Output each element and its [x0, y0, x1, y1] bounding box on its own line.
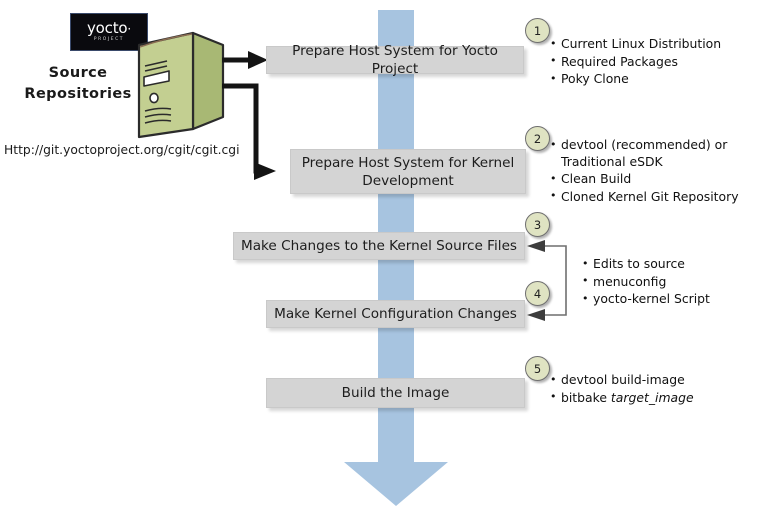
note-text: Current Linux Distribution: [561, 36, 721, 51]
list-item: menuconfig: [582, 274, 752, 291]
process-box-step-5[interactable]: Build the Image: [266, 378, 525, 408]
step-badge-2-number: 2: [534, 132, 541, 146]
source-repository-url: Http://git.yoctoproject.org/cgit/cgit.cg…: [4, 143, 236, 157]
logo-wordmark: yocto·: [87, 21, 131, 36]
list-item: bitbake target_image: [550, 390, 750, 407]
note-text: yocto-kernel Script: [593, 291, 710, 306]
notes-list-step-5: devtool build-image bitbake target_image: [550, 372, 750, 407]
logo-word-text: yocto: [87, 19, 127, 37]
step-badge-3-number: 3: [534, 218, 541, 232]
step-badge-5: 5: [525, 356, 550, 381]
step-badge-4-number: 4: [534, 287, 541, 301]
process-box-step-2-label: Prepare Host System for Kernel Developme…: [291, 154, 525, 190]
step-badge-5-number: 5: [534, 362, 541, 376]
list-item: Current Linux Distribution: [550, 36, 755, 53]
step-badge-4: 4: [525, 281, 550, 306]
process-box-step-2[interactable]: Prepare Host System for Kernel Developme…: [290, 149, 526, 194]
process-box-step-3[interactable]: Make Changes to the Kernel Source Files: [233, 232, 525, 260]
source-repositories-label: Source Repositories: [14, 63, 142, 105]
source-label-line1: Source: [14, 63, 142, 84]
note-text: menuconfig: [593, 274, 666, 289]
list-item: Poky Clone: [550, 71, 755, 88]
diagram-canvas: yocto· PROJECT Source Repositories Http:…: [0, 0, 769, 517]
list-item: Clean Build: [550, 171, 750, 188]
note-text: devtool (recommended) or: [561, 137, 727, 152]
notes-list-steps-3-4: Edits to source menuconfig yocto-kernel …: [582, 256, 752, 309]
logo-subtext: PROJECT: [94, 38, 124, 42]
list-item: devtool build-image: [550, 372, 750, 389]
list-item: Required Packages: [550, 54, 755, 71]
note-text: Poky Clone: [561, 71, 629, 86]
note-text: bitbake: [561, 390, 611, 405]
list-item: yocto-kernel Script: [582, 291, 752, 308]
process-box-step-5-label: Build the Image: [342, 384, 450, 402]
note-text: Cloned Kernel Git Repository: [561, 189, 739, 204]
process-box-step-4-label: Make Kernel Configuration Changes: [274, 305, 517, 323]
note-text: Edits to source: [593, 256, 685, 271]
process-box-step-1-label: Prepare Host System for Yocto Project: [267, 42, 523, 78]
source-label-line2: Repositories: [14, 84, 142, 105]
arrow-server-to-step2: [222, 86, 276, 180]
notes-list-step-2: devtool (recommended) or Traditional eSD…: [550, 137, 750, 206]
bracket-connector-steps-3-4: [527, 240, 566, 321]
step-badge-1: 1: [525, 18, 550, 43]
server-tower-icon: [131, 29, 227, 140]
arrow-server-to-step1: [222, 51, 268, 69]
process-box-step-3-label: Make Changes to the Kernel Source Files: [241, 237, 517, 255]
note-text: devtool build-image: [561, 372, 685, 387]
process-box-step-4[interactable]: Make Kernel Configuration Changes: [266, 300, 525, 328]
note-text-continued: Traditional eSDK: [561, 154, 750, 171]
list-item: Cloned Kernel Git Repository: [550, 189, 750, 206]
note-text: Clean Build: [561, 171, 631, 186]
step-badge-3: 3: [525, 212, 550, 237]
process-box-step-1[interactable]: Prepare Host System for Yocto Project: [266, 46, 524, 74]
list-item: devtool (recommended) or Traditional eSD…: [550, 137, 750, 170]
notes-list-step-1: Current Linux Distribution Required Pack…: [550, 36, 755, 89]
note-text: Required Packages: [561, 54, 678, 69]
list-item: Edits to source: [582, 256, 752, 273]
note-text-emphasis: target_image: [611, 390, 694, 405]
step-badge-2: 2: [525, 126, 550, 151]
step-badge-1-number: 1: [534, 24, 541, 38]
workflow-down-arrow: [341, 440, 451, 508]
